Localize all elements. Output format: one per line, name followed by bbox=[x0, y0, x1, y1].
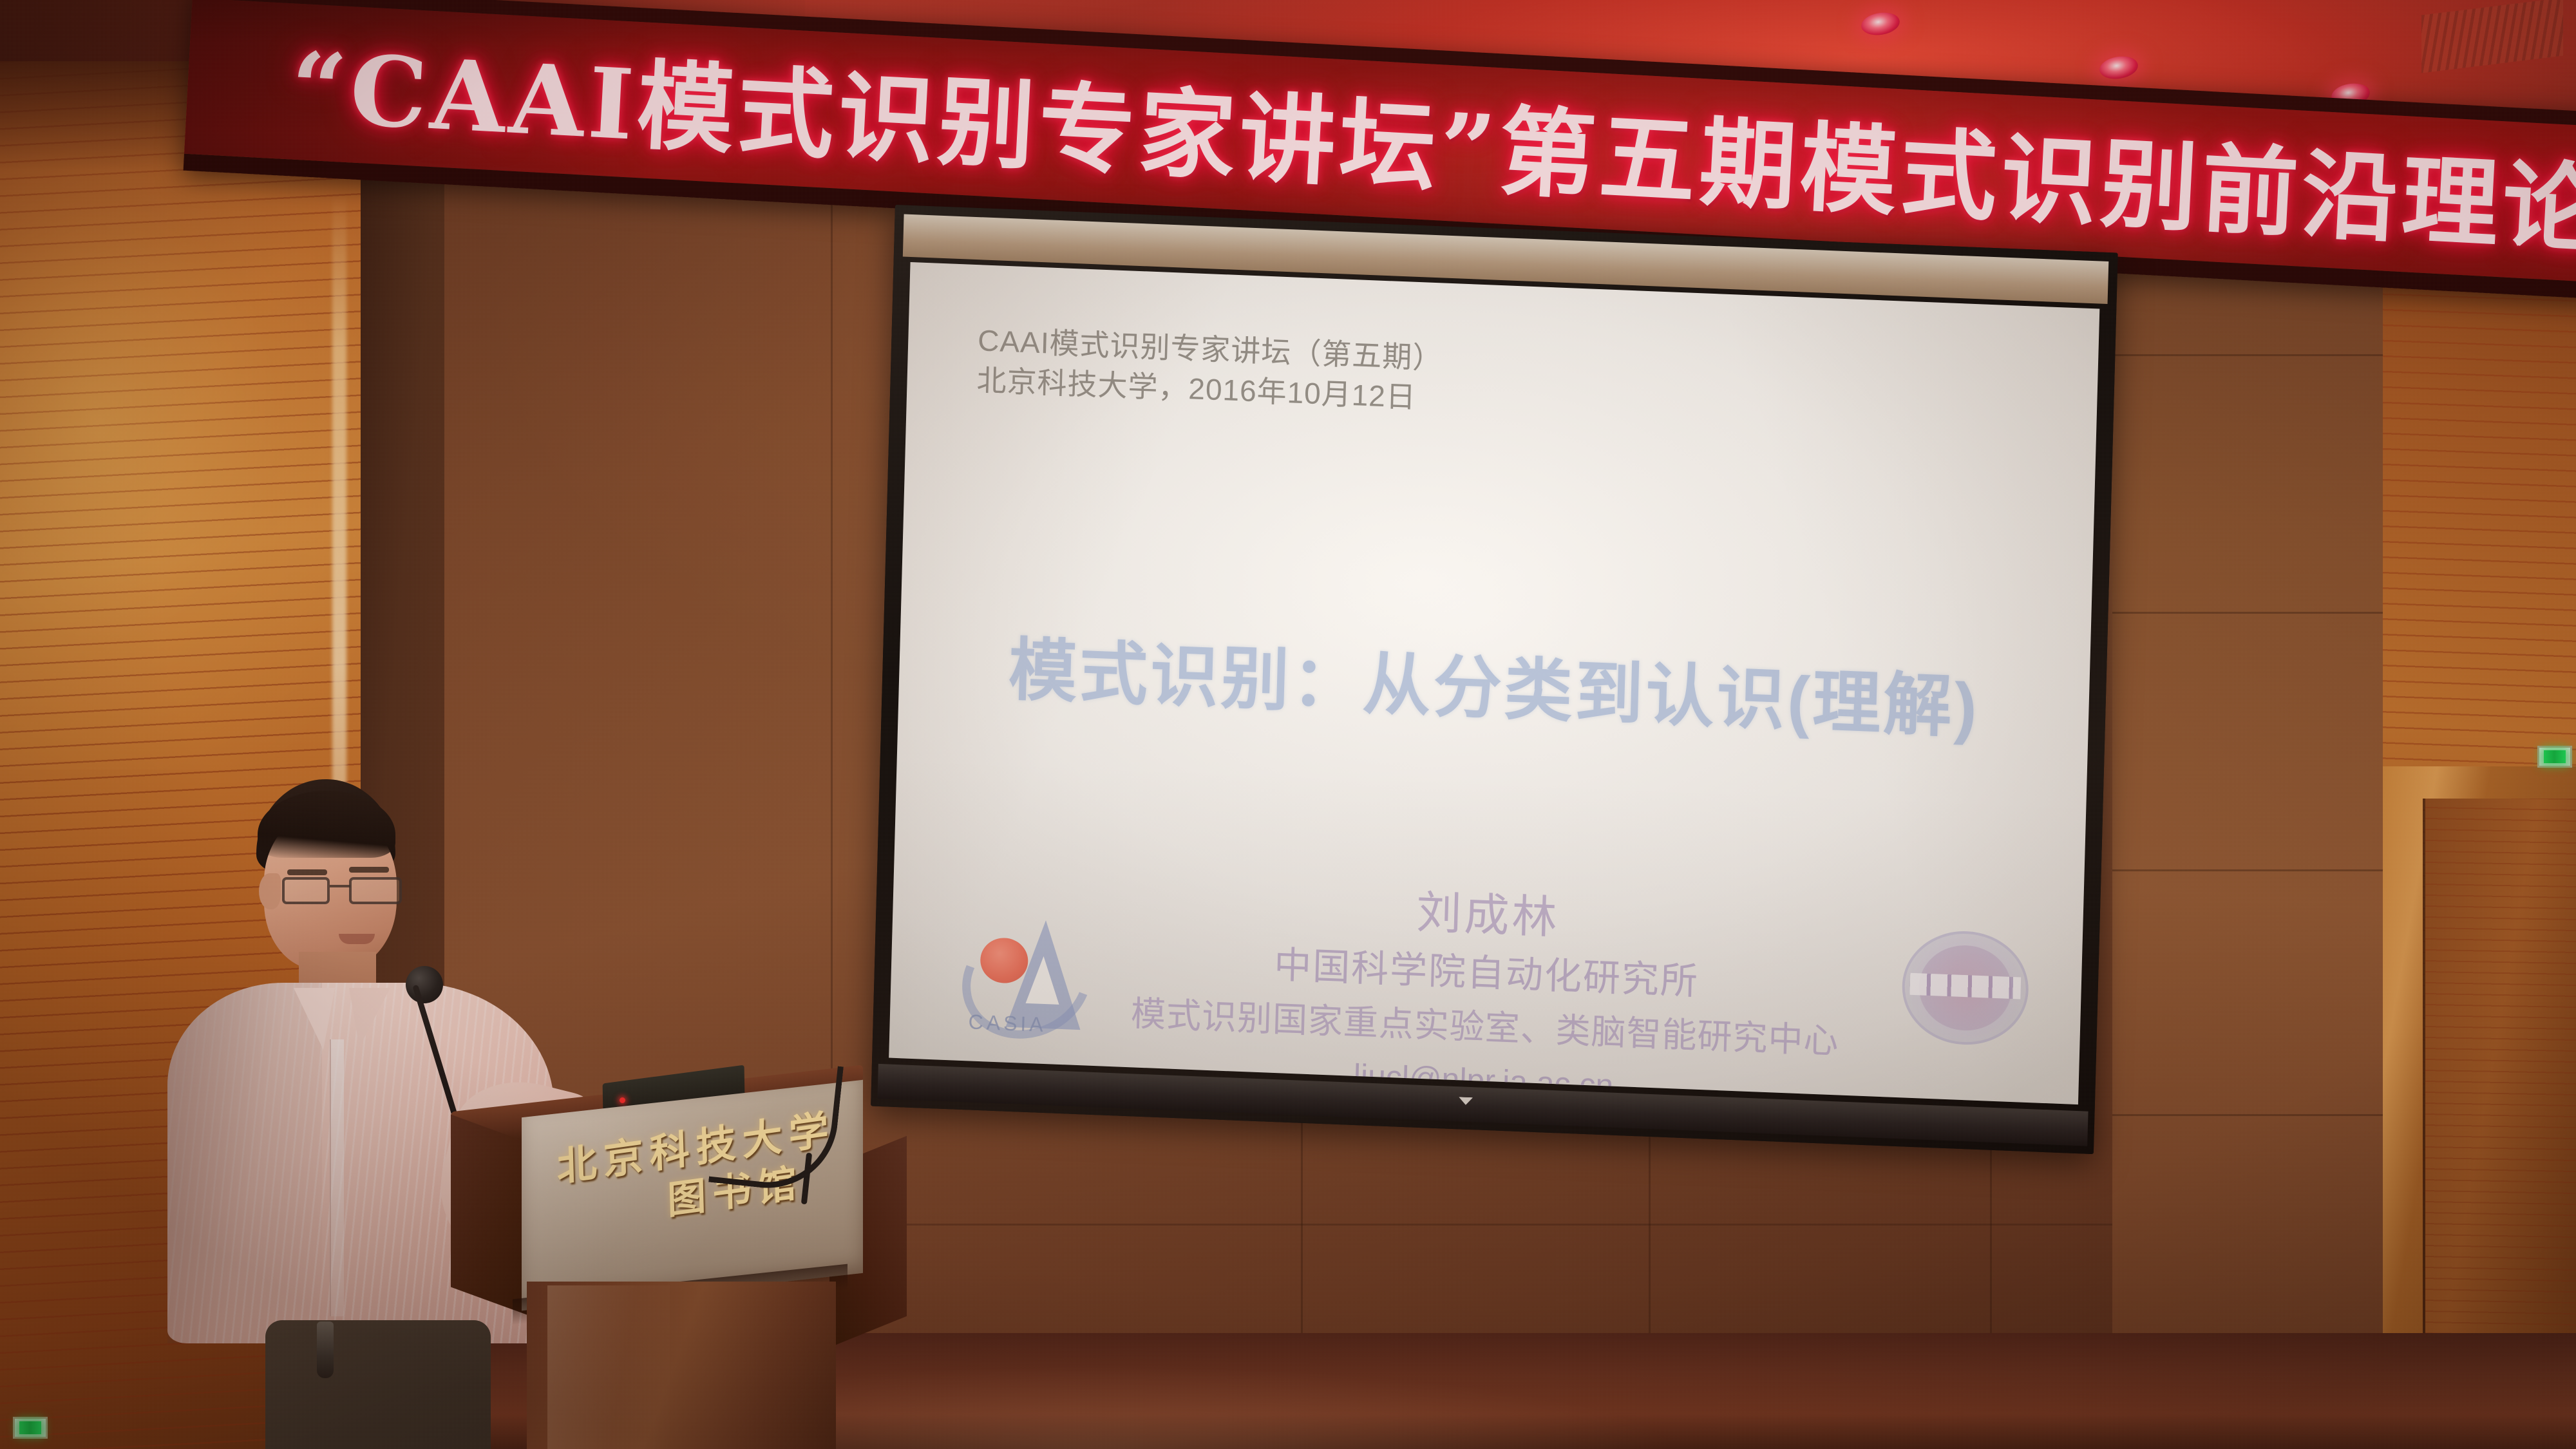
exit-sign bbox=[2537, 746, 2572, 768]
speaker-ear bbox=[259, 873, 281, 909]
right-wall-panel bbox=[2112, 161, 2383, 1385]
lecture-hall-photo: “CAAI模式识别专家讲坛”第五期模式识别前沿理论和应用 CAAI模式识别专家讲… bbox=[0, 0, 2576, 1449]
wall-seam bbox=[2112, 1114, 2383, 1116]
exit-sign-led-icon bbox=[2544, 750, 2566, 763]
speaker-glasses-icon bbox=[282, 877, 404, 905]
microphone-icon bbox=[406, 966, 443, 1003]
belt-mic-transmitter bbox=[317, 1321, 334, 1378]
shirt-collar-left bbox=[294, 988, 335, 1050]
wall-seam bbox=[2112, 612, 2383, 614]
glasses-lens-right bbox=[349, 877, 402, 904]
glasses-bridge bbox=[330, 885, 350, 887]
casia-letter-a-cutout bbox=[1026, 956, 1061, 1005]
speaker-mouth bbox=[339, 934, 375, 944]
door[interactable] bbox=[2423, 799, 2576, 1378]
slide-title: 模式识别：从分类到认识(理解) bbox=[898, 610, 2090, 756]
wall-seam bbox=[2112, 354, 2383, 356]
speaker-eyebrow bbox=[287, 869, 327, 875]
exit-sign-led-icon bbox=[19, 1421, 41, 1434]
speaker-eyebrow bbox=[349, 867, 389, 873]
projection-screen: CAAI模式识别专家讲坛（第五期） 北京科技大学，2016年10月12日 模式识… bbox=[871, 205, 2118, 1154]
exit-sign bbox=[13, 1417, 48, 1439]
laptop-power-led-icon bbox=[620, 1097, 625, 1103]
glasses-lens-left bbox=[282, 877, 330, 904]
shirt-placket bbox=[330, 1039, 344, 1316]
caai-seal-band bbox=[1909, 972, 2021, 999]
shirt-collar-right bbox=[349, 988, 390, 1047]
casia-logo-icon: CASIA bbox=[943, 902, 1108, 1054]
casia-logo-label: CASIA bbox=[968, 1010, 1046, 1037]
podium-base-sheen bbox=[547, 1285, 670, 1449]
wall-seam bbox=[2112, 869, 2383, 871]
slide-header: CAAI模式识别专家讲坛（第五期） 北京科技大学，2016年10月12日 bbox=[976, 320, 1443, 418]
wall-seam bbox=[831, 1224, 2119, 1226]
presentation-slide: CAAI模式识别专家讲坛（第五期） 北京科技大学，2016年10月12日 模式识… bbox=[889, 262, 2099, 1104]
